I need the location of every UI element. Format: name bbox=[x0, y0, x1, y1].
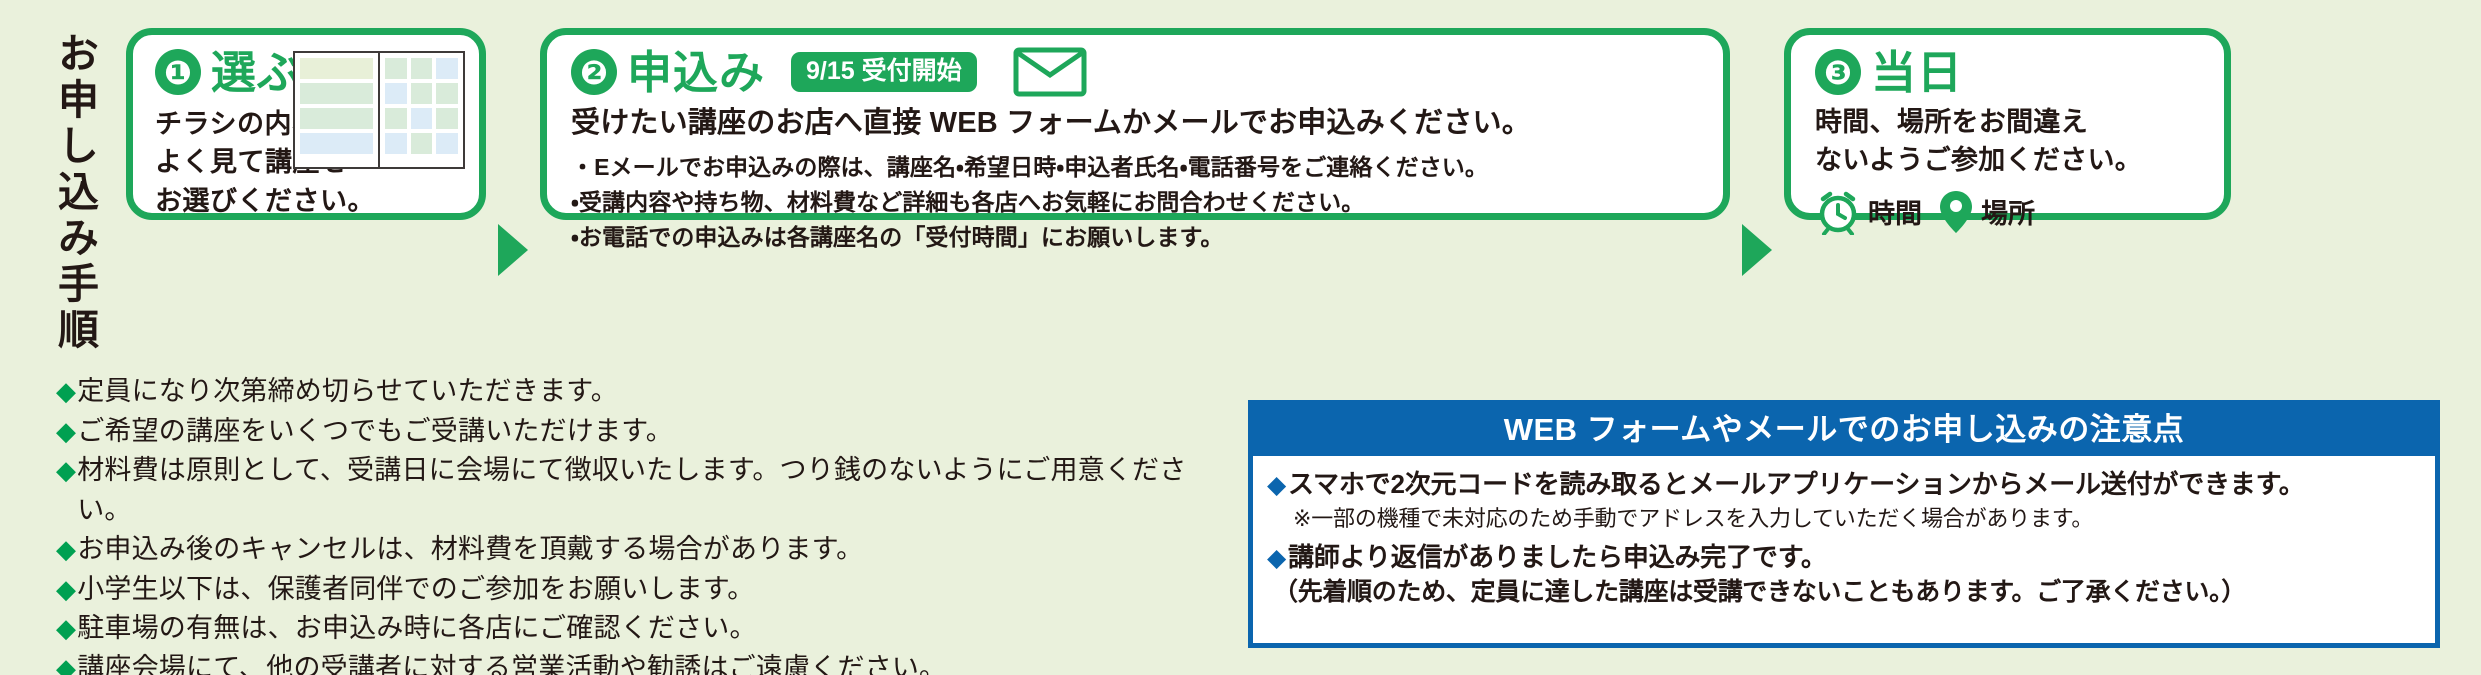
leaflet-cell bbox=[385, 58, 407, 79]
step-card-3: ❸ 当日 時間、場所をお間違え ないようご参加ください。 時間 bbox=[1784, 28, 2231, 220]
leaflet-cell bbox=[385, 108, 407, 129]
note-item-text: 小学生以下は、保護者同伴でのご参加をお願いします。 bbox=[77, 570, 754, 610]
step-3-title: 当日 bbox=[1871, 50, 1963, 95]
step-3-line-1: 時間、場所をお間違え bbox=[1815, 104, 2202, 142]
leaflet-row bbox=[385, 58, 458, 79]
diamond-bullet-icon: ◆ bbox=[1267, 473, 1286, 498]
note-item: ◆ 小学生以下は、保護者同伴でのご参加をお願いします。 bbox=[56, 570, 1206, 610]
note-item-text: 講座会場にて、他の受講者に対する営業活動や勧誘はご遠慮ください。 bbox=[77, 649, 946, 675]
step-1-number-badge: ❶ bbox=[155, 49, 201, 95]
vertical-title-text: お申し込み手順 bbox=[54, 32, 95, 354]
leaflet-band bbox=[300, 58, 373, 79]
leaflet-cell bbox=[411, 58, 433, 79]
step-1-title: 選ぶ bbox=[211, 50, 303, 95]
notice-subtext-1: ※一部の機種で未対応のため手動でアドレスを入力していただく場合があります。 bbox=[1293, 505, 2419, 534]
leaflet-cell bbox=[411, 83, 433, 104]
note-item: ◆ 材料費は原則として、受講日に会場にて徴収いたします。つり銭のないようにご用意… bbox=[56, 451, 1206, 530]
leaflet-cell bbox=[385, 133, 407, 154]
notice-bullet-1: ◆ スマホで2次元コードを読み取るとメールアプリケーションからメール送付ができま… bbox=[1267, 468, 2419, 501]
leaflet-left-page bbox=[295, 53, 380, 167]
note-item-text: お申込み後のキャンセルは、材料費を頂戴する場合があります。 bbox=[77, 530, 863, 570]
notice-subtext-2: （先着順のため、定員に達した講座は受講できないこともあります。ご了承ください。） bbox=[1273, 577, 2419, 608]
envelope-icon bbox=[1013, 47, 1087, 97]
leaflet-row bbox=[385, 108, 458, 129]
leaflet-icon bbox=[293, 51, 465, 169]
notice-bullet-1-text: スマホで2次元コードを読み取るとメールアプリケーションからメール送付ができます。 bbox=[1288, 468, 2305, 501]
diamond-bullet-icon: ◆ bbox=[56, 655, 76, 675]
note-item: ◆ お申込み後のキャンセルは、材料費を頂戴する場合があります。 bbox=[56, 530, 1206, 570]
general-notes-list: ◆ 定員になり次第締め切らせていただきます。 ◆ ご希望の講座をいくつでもご受講… bbox=[56, 372, 1206, 675]
step-3-number-badge: ❸ bbox=[1815, 49, 1861, 95]
step-2-note-list: ・Eメールでお申込みの際は、講座名・希望日時・申込者氏名・電話番号をご連絡くださ… bbox=[571, 150, 1701, 255]
time-icon-group: 時間 bbox=[1815, 189, 1922, 235]
step-card-2: ❷ 申込み 9/15 受付開始 受けたい講座のお店へ直接 WEB フォームかメー… bbox=[540, 28, 1730, 220]
step-2-note-item: ・お電話での申込みは各講座名の「受付時間」にお願いします。 bbox=[571, 220, 1701, 255]
step-2-number-badge: ❷ bbox=[571, 49, 617, 95]
place-icon-label: 場所 bbox=[1981, 192, 2035, 231]
step-3-line-2: ないようご参加ください。 bbox=[1815, 142, 2202, 180]
step-2-header: ❷ 申込み 9/15 受付開始 bbox=[571, 47, 1701, 97]
leaflet-cell bbox=[436, 83, 458, 104]
leaflet-row bbox=[300, 108, 373, 129]
step-2-title: 申込み bbox=[627, 50, 765, 95]
leaflet-row bbox=[385, 83, 458, 104]
section-vertical-title: お申し込み手順 bbox=[28, 18, 120, 368]
note-item: ◆ 駐車場の有無は、お申込み時に各店にご確認ください。 bbox=[56, 609, 1206, 649]
note-item: ◆ ご希望の講座をいくつでもご受講いただけます。 bbox=[56, 412, 1206, 452]
diamond-bullet-icon: ◆ bbox=[56, 378, 76, 404]
leaflet-row bbox=[385, 133, 458, 154]
notice-bullet-2-text: 講師より返信がありましたら申込み完了です。 bbox=[1288, 541, 1827, 574]
step-3-body: 時間、場所をお間違え ないようご参加ください。 bbox=[1815, 104, 2202, 180]
leaflet-cell bbox=[385, 83, 407, 104]
step-2-lead-text: 受けたい講座のお店へ直接 WEB フォームかメールでお申込みください。 bbox=[571, 105, 1701, 141]
diamond-bullet-icon: ◆ bbox=[56, 457, 76, 483]
leaflet-cell bbox=[436, 58, 458, 79]
leaflet-cell bbox=[411, 133, 433, 154]
leaflet-right-page bbox=[380, 53, 463, 167]
leaflet-cell bbox=[300, 108, 373, 129]
alarm-clock-icon bbox=[1815, 189, 1861, 235]
note-item-text: 駐車場の有無は、お申込み時に各店にご確認ください。 bbox=[77, 609, 756, 649]
arrow-step1-to-step2 bbox=[498, 224, 528, 276]
location-pin-icon bbox=[1938, 189, 1974, 235]
reception-start-badge: 9/15 受付開始 bbox=[791, 52, 977, 92]
leaflet-cell bbox=[300, 133, 373, 154]
arrow-step2-to-step3 bbox=[1742, 224, 1772, 276]
diamond-bullet-icon: ◆ bbox=[1267, 546, 1286, 571]
leaflet-row bbox=[300, 133, 373, 154]
step-3-header: ❸ 当日 bbox=[1815, 49, 2202, 95]
notice-heading: WEB フォームやメールでのお申し込みの注意点 bbox=[1253, 405, 2435, 456]
leaflet-cell bbox=[411, 108, 433, 129]
diamond-bullet-icon: ◆ bbox=[56, 418, 76, 444]
note-item-text: ご希望の講座をいくつでもご受講いただけます。 bbox=[77, 412, 673, 452]
step-3-icon-row: 時間 場所 bbox=[1815, 189, 2202, 235]
step-1-line-3: お選びください。 bbox=[155, 182, 461, 220]
leaflet-cell bbox=[436, 133, 458, 154]
leaflet-cell bbox=[300, 83, 373, 104]
leaflet-cell bbox=[436, 108, 458, 129]
diamond-bullet-icon: ◆ bbox=[56, 536, 76, 562]
diamond-bullet-icon: ◆ bbox=[56, 576, 76, 602]
leaflet-row bbox=[300, 83, 373, 104]
note-item: ◆ 講座会場にて、他の受講者に対する営業活動や勧誘はご遠慮ください。 bbox=[56, 649, 1206, 675]
notice-bullet-2: ◆ 講師より返信がありましたら申込み完了です。 bbox=[1267, 541, 2419, 574]
step-2-note-item: ・Eメールでお申込みの際は、講座名・希望日時・申込者氏名・電話番号をご連絡くださ… bbox=[571, 150, 1701, 185]
note-item: ◆ 定員になり次第締め切らせていただきます。 bbox=[56, 372, 1206, 412]
step-2-note-item: ・受講内容や持ち物、材料費など詳細も各店へお気軽にお問合わせください。 bbox=[571, 185, 1701, 220]
steps-strip: お申し込み手順 ❶ 選ぶ チラシの内容を よく見て講座を お選びください。 bbox=[0, 0, 2481, 375]
time-icon-label: 時間 bbox=[1868, 192, 1922, 231]
step-card-1: ❶ 選ぶ チラシの内容を よく見て講座を お選びください。 bbox=[126, 28, 486, 220]
notice-body: ◆ スマホで2次元コードを読み取るとメールアプリケーションからメール送付ができま… bbox=[1253, 456, 2435, 608]
place-icon-group: 場所 bbox=[1938, 189, 2035, 235]
note-item-text: 定員になり次第締め切らせていただきます。 bbox=[77, 372, 618, 412]
web-form-notice-box: WEB フォームやメールでのお申し込みの注意点 ◆ スマホで2次元コードを読み取… bbox=[1248, 400, 2440, 648]
diamond-bullet-icon: ◆ bbox=[56, 615, 76, 641]
note-item-text: 材料費は原則として、受講日に会場にて徴収いたします。つり銭のないようにご用意くだ… bbox=[77, 451, 1206, 530]
